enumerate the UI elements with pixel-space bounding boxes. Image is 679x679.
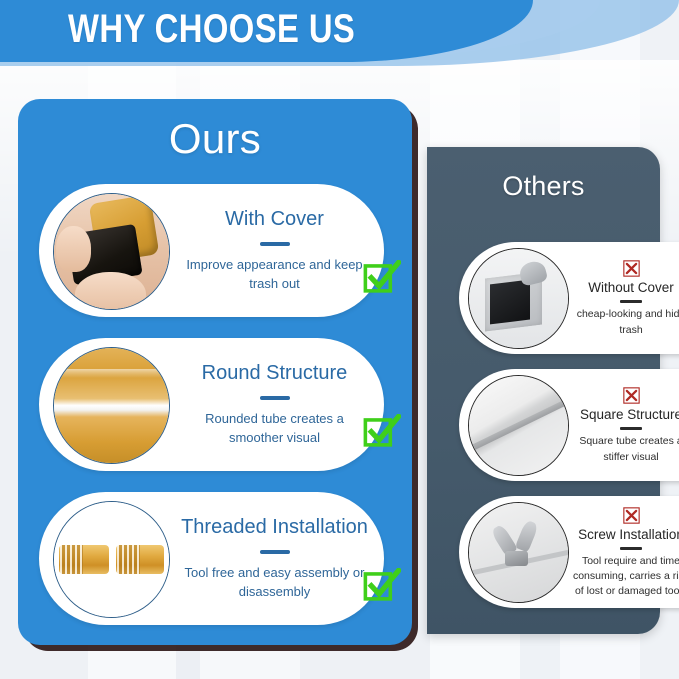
ours-panel-title: Ours	[18, 115, 412, 163]
others-card-2-image	[468, 375, 569, 476]
others-panel: Others Without Cover cheap-looking and h…	[427, 147, 660, 634]
page-title: WHY CHOOSE US	[68, 7, 355, 52]
others-card-1-title: Without Cover	[588, 280, 674, 295]
ours-card-1-image	[53, 193, 170, 310]
golden-round-tube-photo	[54, 348, 169, 463]
others-card-2-body: Square Structure Square tube creates a s…	[571, 373, 679, 477]
ours-card-1-title: With Cover	[225, 208, 324, 231]
others-card-2-title: Square Structure	[580, 407, 679, 422]
ours-card-1-desc: Improve appearance and keep trash out	[180, 255, 370, 294]
ours-card-3-divider	[260, 550, 290, 554]
others-card-1-divider	[620, 300, 642, 303]
others-card-without-cover[interactable]: Without Cover cheap-looking and hide tra…	[459, 242, 679, 354]
ours-card-3-title: Threaded Installation	[181, 516, 368, 539]
ours-card-2-title: Round Structure	[202, 362, 348, 385]
ours-card-2-body: Round Structure Rounded tube creates a s…	[179, 338, 370, 471]
cross-mark-icon	[623, 387, 640, 404]
others-card-square-structure[interactable]: Square Structure Square tube creates a s…	[459, 369, 679, 481]
cross-mark-icon	[623, 260, 640, 277]
ours-card-round-structure[interactable]: Round Structure Rounded tube creates a s…	[39, 338, 384, 471]
grey-square-tube-open-end-photo	[469, 249, 568, 348]
ours-card-3-desc: Tool free and easy assembly or disassemb…	[180, 563, 370, 602]
ours-panel: Ours With Cover Improve appearance and k…	[18, 99, 412, 645]
others-card-1-body: Without Cover cheap-looking and hide tra…	[571, 246, 679, 350]
others-card-3-title: Screw Installation	[578, 527, 679, 542]
wing-screw-photo	[469, 503, 568, 602]
check-mark-icon	[363, 568, 401, 606]
ours-card-2-image	[53, 347, 170, 464]
ours-card-3-image	[53, 501, 170, 618]
grey-square-tube-diagonal-photo	[469, 376, 568, 475]
threaded-tube-segments-photo	[54, 502, 169, 617]
others-panel-title: Others	[427, 171, 660, 202]
ours-card-1-body: With Cover Improve appearance and keep t…	[179, 184, 370, 317]
others-card-3-image	[468, 502, 569, 603]
others-card-1-image	[468, 248, 569, 349]
ours-card-2-desc: Rounded tube creates a smoother visual	[180, 409, 370, 448]
ours-card-threaded-installation[interactable]: Threaded Installation Tool free and easy…	[39, 492, 384, 625]
ours-card-3-body: Threaded Installation Tool free and easy…	[179, 492, 370, 625]
others-card-screw-installation[interactable]: Screw Installation Tool require and time…	[459, 496, 679, 608]
others-card-3-body: Screw Installation Tool require and time…	[571, 500, 679, 604]
others-card-2-divider	[620, 427, 642, 430]
others-card-2-desc: Square tube creates a stiffer visual	[571, 434, 679, 464]
ours-card-with-cover[interactable]: With Cover Improve appearance and keep t…	[39, 184, 384, 317]
check-mark-icon	[363, 260, 401, 298]
infographic-stage: WHY CHOOSE US Others Without Cover cheap…	[0, 0, 679, 679]
cross-mark-icon	[623, 507, 640, 524]
others-card-3-desc: Tool require and time consuming, carries…	[571, 554, 679, 600]
others-card-1-desc: cheap-looking and hide trash	[571, 307, 679, 337]
ours-card-1-divider	[260, 242, 290, 246]
hand-holding-tube-photo	[54, 194, 169, 309]
others-card-3-divider	[620, 547, 642, 550]
check-mark-icon	[363, 414, 401, 452]
ours-card-2-divider	[260, 396, 290, 400]
header-banner: WHY CHOOSE US	[0, 0, 679, 72]
